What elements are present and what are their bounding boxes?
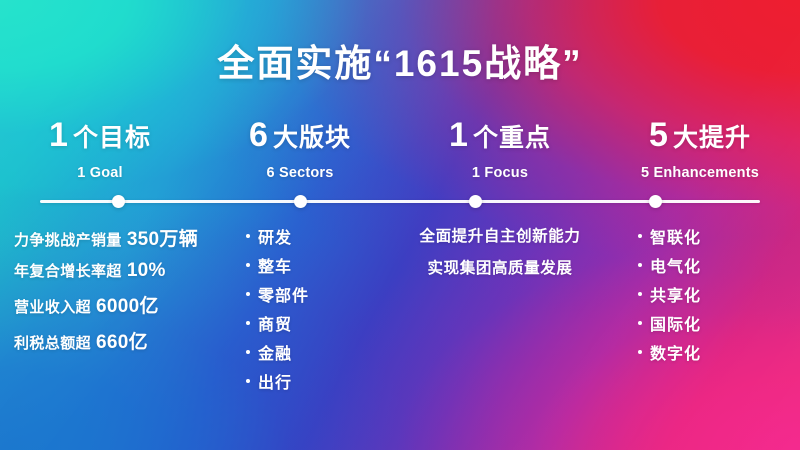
- bullet-dot-icon: [246, 321, 250, 325]
- bullet-dot-icon: [638, 234, 642, 238]
- sector-label: 商贸: [258, 311, 292, 335]
- goal-stat-label: 力争挑战产销量: [14, 229, 122, 250]
- list-item: 整车: [246, 253, 400, 277]
- sector-label: 金融: [258, 340, 292, 364]
- goal-stat-value: 350万辆: [127, 224, 198, 251]
- sector-label: 研发: [258, 224, 292, 248]
- enhancement-label: 数字化: [650, 340, 701, 364]
- heading-en-goal: 1 Goal: [0, 165, 200, 181]
- heading-cn-enhancements: 5 大提升: [600, 118, 800, 154]
- goal-stat-item: 力争挑战产销量 350万辆: [14, 224, 200, 251]
- divider-node-sectors: [294, 195, 307, 208]
- heading-label-goal: 个目标: [73, 126, 151, 151]
- heading-cn-focus: 1 个重点: [400, 118, 600, 154]
- list-item: 数字化: [638, 340, 800, 364]
- heading-label-enhancements: 大提升: [673, 126, 751, 151]
- bullet-dot-icon: [638, 292, 642, 296]
- heading-number-focus: 1: [449, 118, 468, 152]
- sector-label: 整车: [258, 253, 292, 277]
- bullet-dot-icon: [246, 350, 250, 354]
- list-item: 出行: [246, 369, 400, 393]
- heading-number-enhancements: 5: [649, 118, 668, 152]
- bullet-dot-icon: [638, 263, 642, 267]
- focus-statement: 全面提升自主创新能力 实现集团高质量发展: [400, 224, 600, 278]
- enhancement-label: 电气化: [650, 253, 701, 277]
- heading-cn-sectors: 6 大版块: [200, 118, 400, 154]
- body-goal: 力争挑战产销量 350万辆 年复合增长率超 10% 营业收入超 6000亿 利税…: [0, 224, 200, 398]
- sectors-bullet-list: 研发 整车 零部件 商贸 金融: [200, 224, 400, 393]
- goal-stat-value: 6000亿: [96, 291, 159, 318]
- divider-node-goal: [112, 195, 125, 208]
- list-item: 电气化: [638, 253, 800, 277]
- goal-stat-value: 660亿: [96, 327, 148, 354]
- column-headings: 1 个目标 1 Goal 6 大版块 6 Sectors 1 个重点 1 Foc…: [0, 118, 800, 181]
- enhancement-label: 共享化: [650, 282, 701, 306]
- heading-cn-goal: 1 个目标: [0, 118, 200, 154]
- goal-stat-label: 年复合增长率超: [14, 260, 122, 281]
- enhancement-label: 智联化: [650, 224, 701, 248]
- divider-node-focus: [469, 195, 482, 208]
- heading-label-sectors: 大版块: [273, 126, 351, 151]
- infographic-slide: 全面实施“1615战略” 1 个目标 1 Goal 6 大版块 6 Sector…: [0, 0, 800, 450]
- list-item: 金融: [246, 340, 400, 364]
- bullet-dot-icon: [246, 379, 250, 383]
- sector-label: 出行: [258, 369, 292, 393]
- column-heading-enhancements: 5 大提升 5 Enhancements: [600, 118, 800, 181]
- goal-stat-list: 力争挑战产销量 350万辆 年复合增长率超 10% 营业收入超 6000亿 利税…: [0, 224, 200, 354]
- bullet-dot-icon: [246, 234, 250, 238]
- heading-number-sectors: 6: [249, 118, 268, 152]
- heading-label-focus: 个重点: [473, 126, 551, 151]
- focus-line: 全面提升自主创新能力: [408, 224, 592, 246]
- focus-line: 实现集团高质量发展: [408, 256, 592, 278]
- body-enhancements: 智联化 电气化 共享化 国际化 数字化: [600, 224, 800, 398]
- bullet-dot-icon: [246, 263, 250, 267]
- list-item: 共享化: [638, 282, 800, 306]
- slide-title: 全面实施“1615战略”: [0, 44, 800, 85]
- list-item: 智联化: [638, 224, 800, 248]
- bullet-dot-icon: [638, 321, 642, 325]
- column-heading-sectors: 6 大版块 6 Sectors: [200, 118, 400, 181]
- goal-stat-item: 利税总额超 660亿: [14, 327, 200, 354]
- bullet-dot-icon: [246, 292, 250, 296]
- body-sectors: 研发 整车 零部件 商贸 金融: [200, 224, 400, 398]
- heading-en-sectors: 6 Sectors: [200, 165, 400, 181]
- enhancements-bullet-list: 智联化 电气化 共享化 国际化 数字化: [600, 224, 800, 364]
- goal-stat-value: 10%: [127, 260, 166, 282]
- column-heading-focus: 1 个重点 1 Focus: [400, 118, 600, 181]
- heading-en-focus: 1 Focus: [400, 165, 600, 181]
- heading-en-enhancements: 5 Enhancements: [600, 165, 800, 181]
- enhancement-label: 国际化: [650, 311, 701, 335]
- list-item: 商贸: [246, 311, 400, 335]
- goal-stat-label: 利税总额超: [14, 332, 91, 353]
- heading-number-goal: 1: [49, 118, 68, 152]
- goal-stat-item: 年复合增长率超 10%: [14, 260, 200, 282]
- divider-node-enhancements: [649, 195, 662, 208]
- column-bodies: 力争挑战产销量 350万辆 年复合增长率超 10% 营业收入超 6000亿 利税…: [0, 224, 800, 398]
- list-item: 国际化: [638, 311, 800, 335]
- body-focus: 全面提升自主创新能力 实现集团高质量发展: [400, 224, 600, 398]
- column-heading-goal: 1 个目标 1 Goal: [0, 118, 200, 181]
- bullet-dot-icon: [638, 350, 642, 354]
- list-item: 研发: [246, 224, 400, 248]
- goal-stat-item: 营业收入超 6000亿: [14, 291, 200, 318]
- sector-label: 零部件: [258, 282, 309, 306]
- goal-stat-label: 营业收入超: [14, 296, 91, 317]
- list-item: 零部件: [246, 282, 400, 306]
